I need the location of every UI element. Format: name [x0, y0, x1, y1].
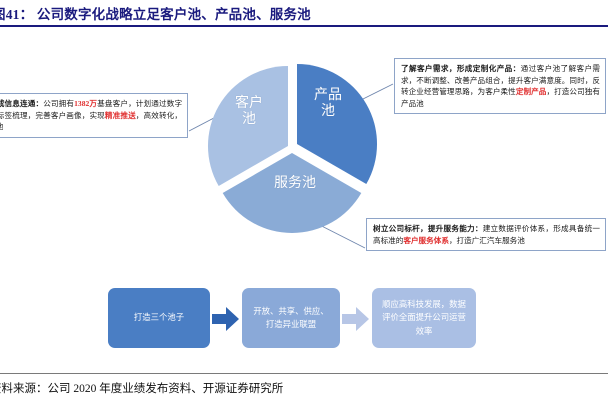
callout-service-body-b: ，打造广汇汽车服务池	[449, 236, 525, 245]
callout-product-pool: 了解客户需求，形成定制化产品：通过客户池了解客户需求，不断调整、改善产品组合，提…	[394, 58, 606, 114]
flow-step-3: 顺应高科技发展，数据评价全面提升公司运营效率	[372, 288, 476, 348]
flow-step-1-label: 打造三个池子	[134, 311, 184, 324]
flow-step-1: 打造三个池子	[108, 288, 210, 348]
callout-customer-highlight-a: 1382万	[74, 99, 97, 108]
flow-arrow-1-icon	[212, 306, 240, 332]
callout-service-pool: 树立公司标杆，提升服务能力：建立数据评价体系，形成具备统一高标准的客户服务体系，…	[366, 218, 606, 251]
figure-page: 图41： 公司数字化战略立足客户池、产品池、服务池 客户 池	[0, 0, 608, 404]
flow-step-2: 开放、共享、供应、打造异业联盟	[242, 288, 340, 348]
callout-product-lead: 了解客户需求，形成定制化产品：	[401, 64, 521, 73]
strategy-flow-row: 打造三个池子 开放、共享、供应、打造异业联盟 顺应高科技发展，数据评价全面提升公…	[0, 288, 608, 354]
callout-service-highlight-a: 客户服务体系	[403, 236, 449, 245]
callout-customer-highlight-b: 精准推送	[105, 111, 136, 120]
flow-step-3-label: 顺应高科技发展，数据评价全面提升公司运营效率	[381, 298, 467, 337]
callout-customer-pool: 归集散落客户，形成信息连通：公司拥有1382万基盘客户，计划通过数字化手段对客户…	[0, 93, 188, 138]
callout-customer-body-a: 公司拥有	[43, 99, 74, 108]
callout-product-highlight-a: 定制产品	[516, 87, 547, 96]
callout-service-lead: 树立公司标杆，提升服务能力：	[373, 224, 483, 233]
flow-arrow-2-icon	[342, 306, 370, 332]
callout-customer-lead: 归集散落客户，形成信息连通：	[0, 99, 43, 108]
pie-svg	[196, 58, 386, 238]
three-pools-pie-chart: 客户 池 产品 池 服务池	[196, 58, 386, 238]
flow-step-2-label: 开放、共享、供应、打造异业联盟	[251, 305, 331, 331]
